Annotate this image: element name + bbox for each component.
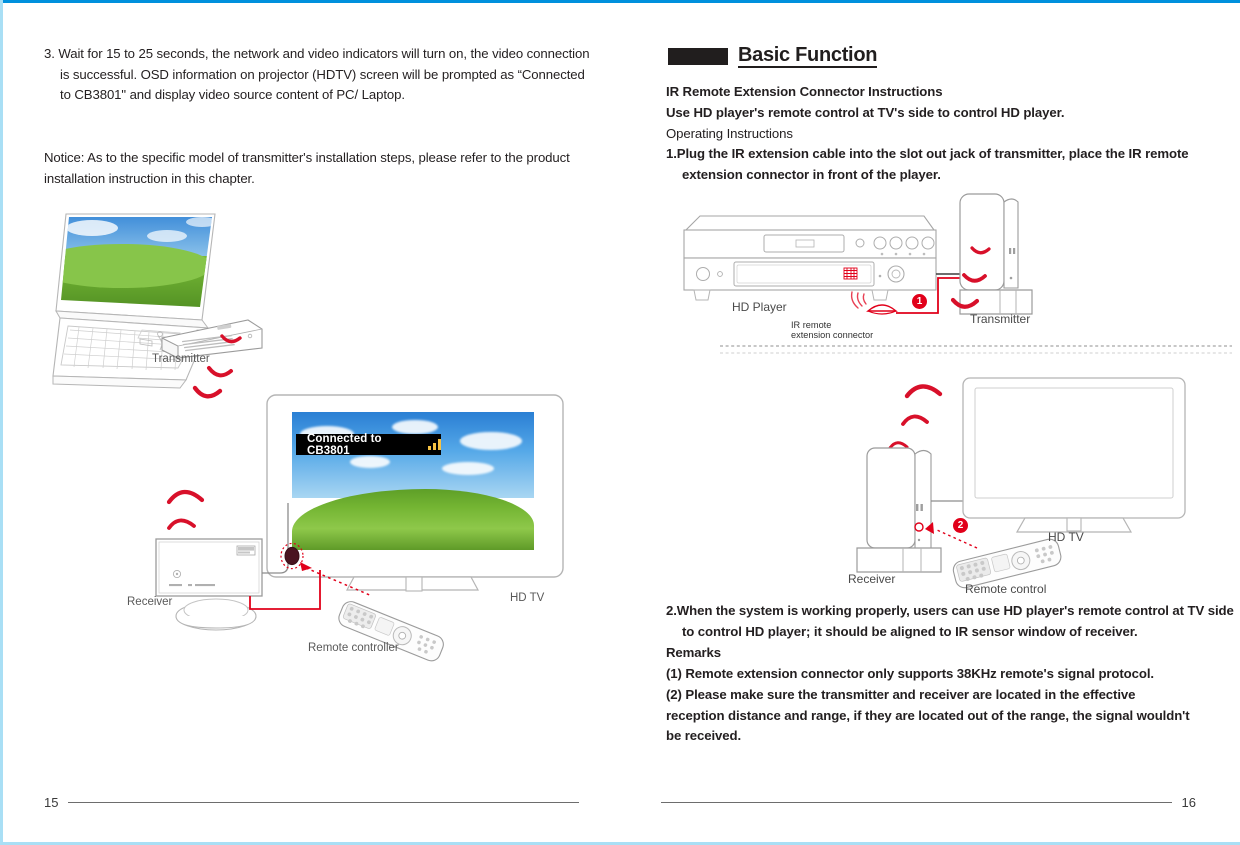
transmitter-label: Transmitter <box>970 312 1030 326</box>
right-heading: IR Remote Extension Connector Instructio… <box>666 82 1206 103</box>
hd-player-label: HD Player <box>732 300 787 314</box>
left-remote-illustration: Remote controller <box>330 604 450 664</box>
right-operating-label: Operating Instructions <box>666 124 1206 145</box>
remote-control-label: Remote control <box>965 582 1046 596</box>
left-receiver-label: Receiver <box>127 596 172 608</box>
right-intro: Use HD player's remote control at TV's s… <box>666 103 1206 124</box>
left-transmitter-label: Transmitter <box>152 353 210 365</box>
hd-player-diagram: 1 HD Player IR remote extension connecto… <box>672 196 1067 366</box>
cloud-icon <box>442 462 494 475</box>
remark-2: (2) Please make sure the transmitter and… <box>666 685 1194 747</box>
left-notice-text: Notice: As to the specific model of tran… <box>44 148 574 189</box>
right-page-number: 16 <box>1182 795 1196 810</box>
right-page: Basic Function IR Remote Extension Conne… <box>620 0 1240 845</box>
manual-page-spread: 3. Wait for 15 to 25 seconds, the networ… <box>0 0 1240 845</box>
cloud-icon <box>460 432 522 450</box>
bottom-hdtv-label: HD TV <box>1048 530 1084 544</box>
left-remote-label: Remote controller <box>308 642 399 654</box>
remark-1: (1) Remote extension connector only supp… <box>666 664 1210 685</box>
section-title: Basic Function <box>738 44 877 68</box>
osd-banner: Connected to CB3801 <box>296 434 441 455</box>
left-page-number: 15 <box>44 795 58 810</box>
diagram-separator <box>720 342 1240 356</box>
section-marker-block <box>668 48 728 65</box>
cloud-icon <box>350 456 390 468</box>
left-hdtv-label: HD TV <box>510 592 544 604</box>
left-page: 3. Wait for 15 to 25 seconds, the networ… <box>0 0 620 845</box>
left-step-3-text: 3. Wait for 15 to 25 seconds, the networ… <box>44 44 596 106</box>
osd-text: Connected to CB3801 <box>307 433 410 457</box>
receiver-tv-diagram: 2 Receiver Remote control HD TV <box>845 372 1215 597</box>
remarks-title: Remarks <box>666 643 1206 664</box>
right-step-1: 1.Plug the IR extension cable into the s… <box>666 144 1228 185</box>
laptop-transmitter-illustration: Transmitter <box>52 208 302 408</box>
footer-rule <box>68 802 579 803</box>
section-header: Basic Function <box>668 44 877 68</box>
footer-rule <box>661 802 1172 803</box>
ir-connector-label-line2: extension connector <box>791 330 873 341</box>
receiver-label: Receiver <box>848 572 895 586</box>
right-page-footer: 16 <box>661 795 1196 810</box>
step-badge-1: 1 <box>912 294 927 309</box>
step-badge-2: 2 <box>953 518 968 533</box>
right-step-2: 2.When the system is working properly, u… <box>666 601 1238 642</box>
left-page-footer: 15 <box>44 795 579 810</box>
signal-bars-icon <box>428 439 441 450</box>
